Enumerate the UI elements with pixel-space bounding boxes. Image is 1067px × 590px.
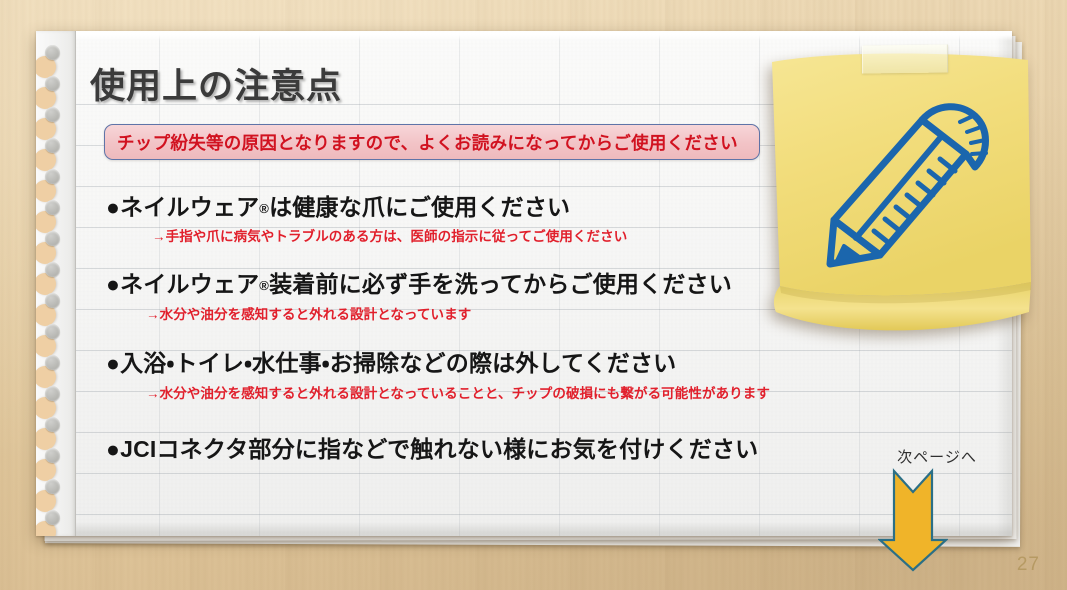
bullet-marker-icon-1: ● [106,194,120,220]
bullet-main-pre-2: ネイルウェア [120,271,259,297]
bullet-main-text-4: ●JCIコネクタ部分に指などで触れない様にお気を付けください [106,430,758,464]
bullet-sub-text-3: →水分や油分を感知すると外れる設計となっていることと、チップの破損にも繋がる可能… [146,382,770,402]
next-page-arrow[interactable] [878,468,948,573]
bullet-main-post-2: 装着前に必ず手を洗ってからご使用ください [269,271,732,297]
bullet-sub-text-2: →水分や油分を感知すると外れる設計となっています [146,303,471,323]
bullet-main-pre-4: JCIコネクタ部分に指などで触れない様にお気を付けください [120,436,758,462]
registered-mark-1: ® [259,201,269,216]
warning-callout-text: チップ紛失等の原因となりますので、よくお読みになってからご使用ください [105,130,738,155]
tape-icon [862,45,948,74]
page-title: 使用上の注意点 [90,58,342,109]
bullet-main-pre-1: ネイルウェア [120,194,259,220]
sticky-note-body [772,54,1031,296]
page-number: 27 [1017,554,1040,576]
bullet-marker-icon-4: ● [106,436,120,462]
next-page-label: 次ページへ [897,449,977,466]
bullet-main-pre-3: 入浴・トイレ・水仕事・お掃除などの際は外してください [120,350,676,376]
arrow-down-icon [878,468,948,573]
warning-callout-box: チップ紛失等の原因となりますので、よくお読みになってからご使用ください [104,124,760,160]
sticky-note [770,50,1032,341]
bullet-main-text-2: ●ネイルウェア®装着前に必ず手を洗ってからご使用ください [106,265,732,299]
next-page-hint: 次ページへ [872,446,1002,467]
bullet-main-text-1: ●ネイルウェア®は健康な爪にご使用ください [106,188,570,222]
registered-mark-2: ® [259,278,269,293]
bullet-sub-text-1: →手指や爪に病気やトラブルのある方は、医師の指示に従ってご使用ください [152,225,627,245]
bullet-main-text-3: ●入浴・トイレ・水仕事・お掃除などの際は外してください [106,344,676,378]
bullet-marker-icon-2: ● [106,271,120,297]
bullet-marker-icon-3: ● [106,350,120,376]
bullet-main-post-1: は健康な爪にご使用ください [269,194,570,220]
